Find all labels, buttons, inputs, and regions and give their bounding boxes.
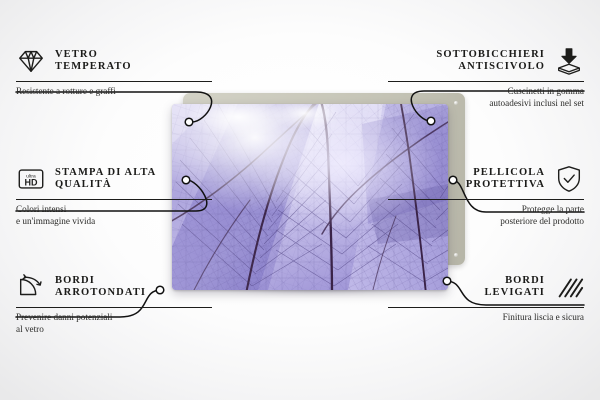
diamond-icon — [16, 46, 46, 76]
smooth-edge-lines-icon — [554, 272, 584, 302]
feature-title: BORDI ARROTONDATI — [55, 275, 146, 300]
feature-header: VETRO TEMPERATO — [16, 46, 212, 76]
feature-subtitle: Cuscinetti in gomma autoadesivi inclusi … — [388, 86, 584, 109]
feature-title: VETRO TEMPERATO — [55, 49, 132, 74]
feature-bordi-arrotondati: BORDI ARROTONDATI Prevenire danni potenz… — [16, 272, 212, 335]
feature-divider — [16, 81, 212, 82]
feature-subtitle: Protegge la parte posteriore del prodott… — [388, 204, 584, 227]
feature-title: SOTTOBICCHIERI ANTISCIVOLO — [436, 49, 545, 74]
feature-header: PELLICOLA PROTETTIVA — [388, 164, 584, 194]
feature-bordi-levigati: BORDI LEVIGATI Finitura liscia e sicura — [388, 272, 584, 324]
feature-subtitle: Finitura liscia e sicura — [388, 312, 584, 324]
shield-check-icon — [554, 164, 584, 194]
ultra-hd-icon: ultra HD — [16, 164, 46, 194]
feature-subtitle: Resistente a rotture e graffi — [16, 86, 212, 98]
feature-title: STAMPA DI ALTA QUALITÀ — [55, 167, 156, 192]
feature-divider — [388, 81, 584, 82]
feature-header: ultra HD STAMPA DI ALTA QUALITÀ — [16, 164, 212, 194]
infographic-canvas: VETRO TEMPERATO Resistente a rotture e g… — [0, 0, 600, 400]
rounded-corner-icon — [16, 272, 46, 302]
feature-divider — [388, 307, 584, 308]
panel-screw-bottom-icon — [454, 253, 458, 257]
feature-sottobicchieri-antiscivolo: SOTTOBICCHIERI ANTISCIVOLO Cuscinetti in… — [388, 46, 584, 109]
feature-header: BORDI ARROTONDATI — [16, 272, 212, 302]
feature-subtitle: Prevenire danni potenziali al vetro — [16, 312, 212, 335]
feature-title: BORDI LEVIGATI — [484, 275, 545, 300]
feature-title: PELLICOLA PROTETTIVA — [466, 167, 545, 192]
feature-stampa-di-alta-qualita: ultra HD STAMPA DI ALTA QUALITÀ Colori i… — [16, 164, 212, 227]
feature-header: BORDI LEVIGATI — [388, 272, 584, 302]
feature-header: SOTTOBICCHIERI ANTISCIVOLO — [388, 46, 584, 76]
feature-divider — [388, 199, 584, 200]
feature-vetro-temperato: VETRO TEMPERATO Resistente a rotture e g… — [16, 46, 212, 98]
feature-pellicola-protettiva: PELLICOLA PROTETTIVA Protegge la parte p… — [388, 164, 584, 227]
feature-divider — [16, 307, 212, 308]
ultra-hd-icon-main-label: HD — [25, 178, 38, 188]
feature-subtitle: Colori intensi e un'immagine vivida — [16, 204, 212, 227]
feature-divider — [16, 199, 212, 200]
anti-slip-pad-icon — [554, 46, 584, 76]
